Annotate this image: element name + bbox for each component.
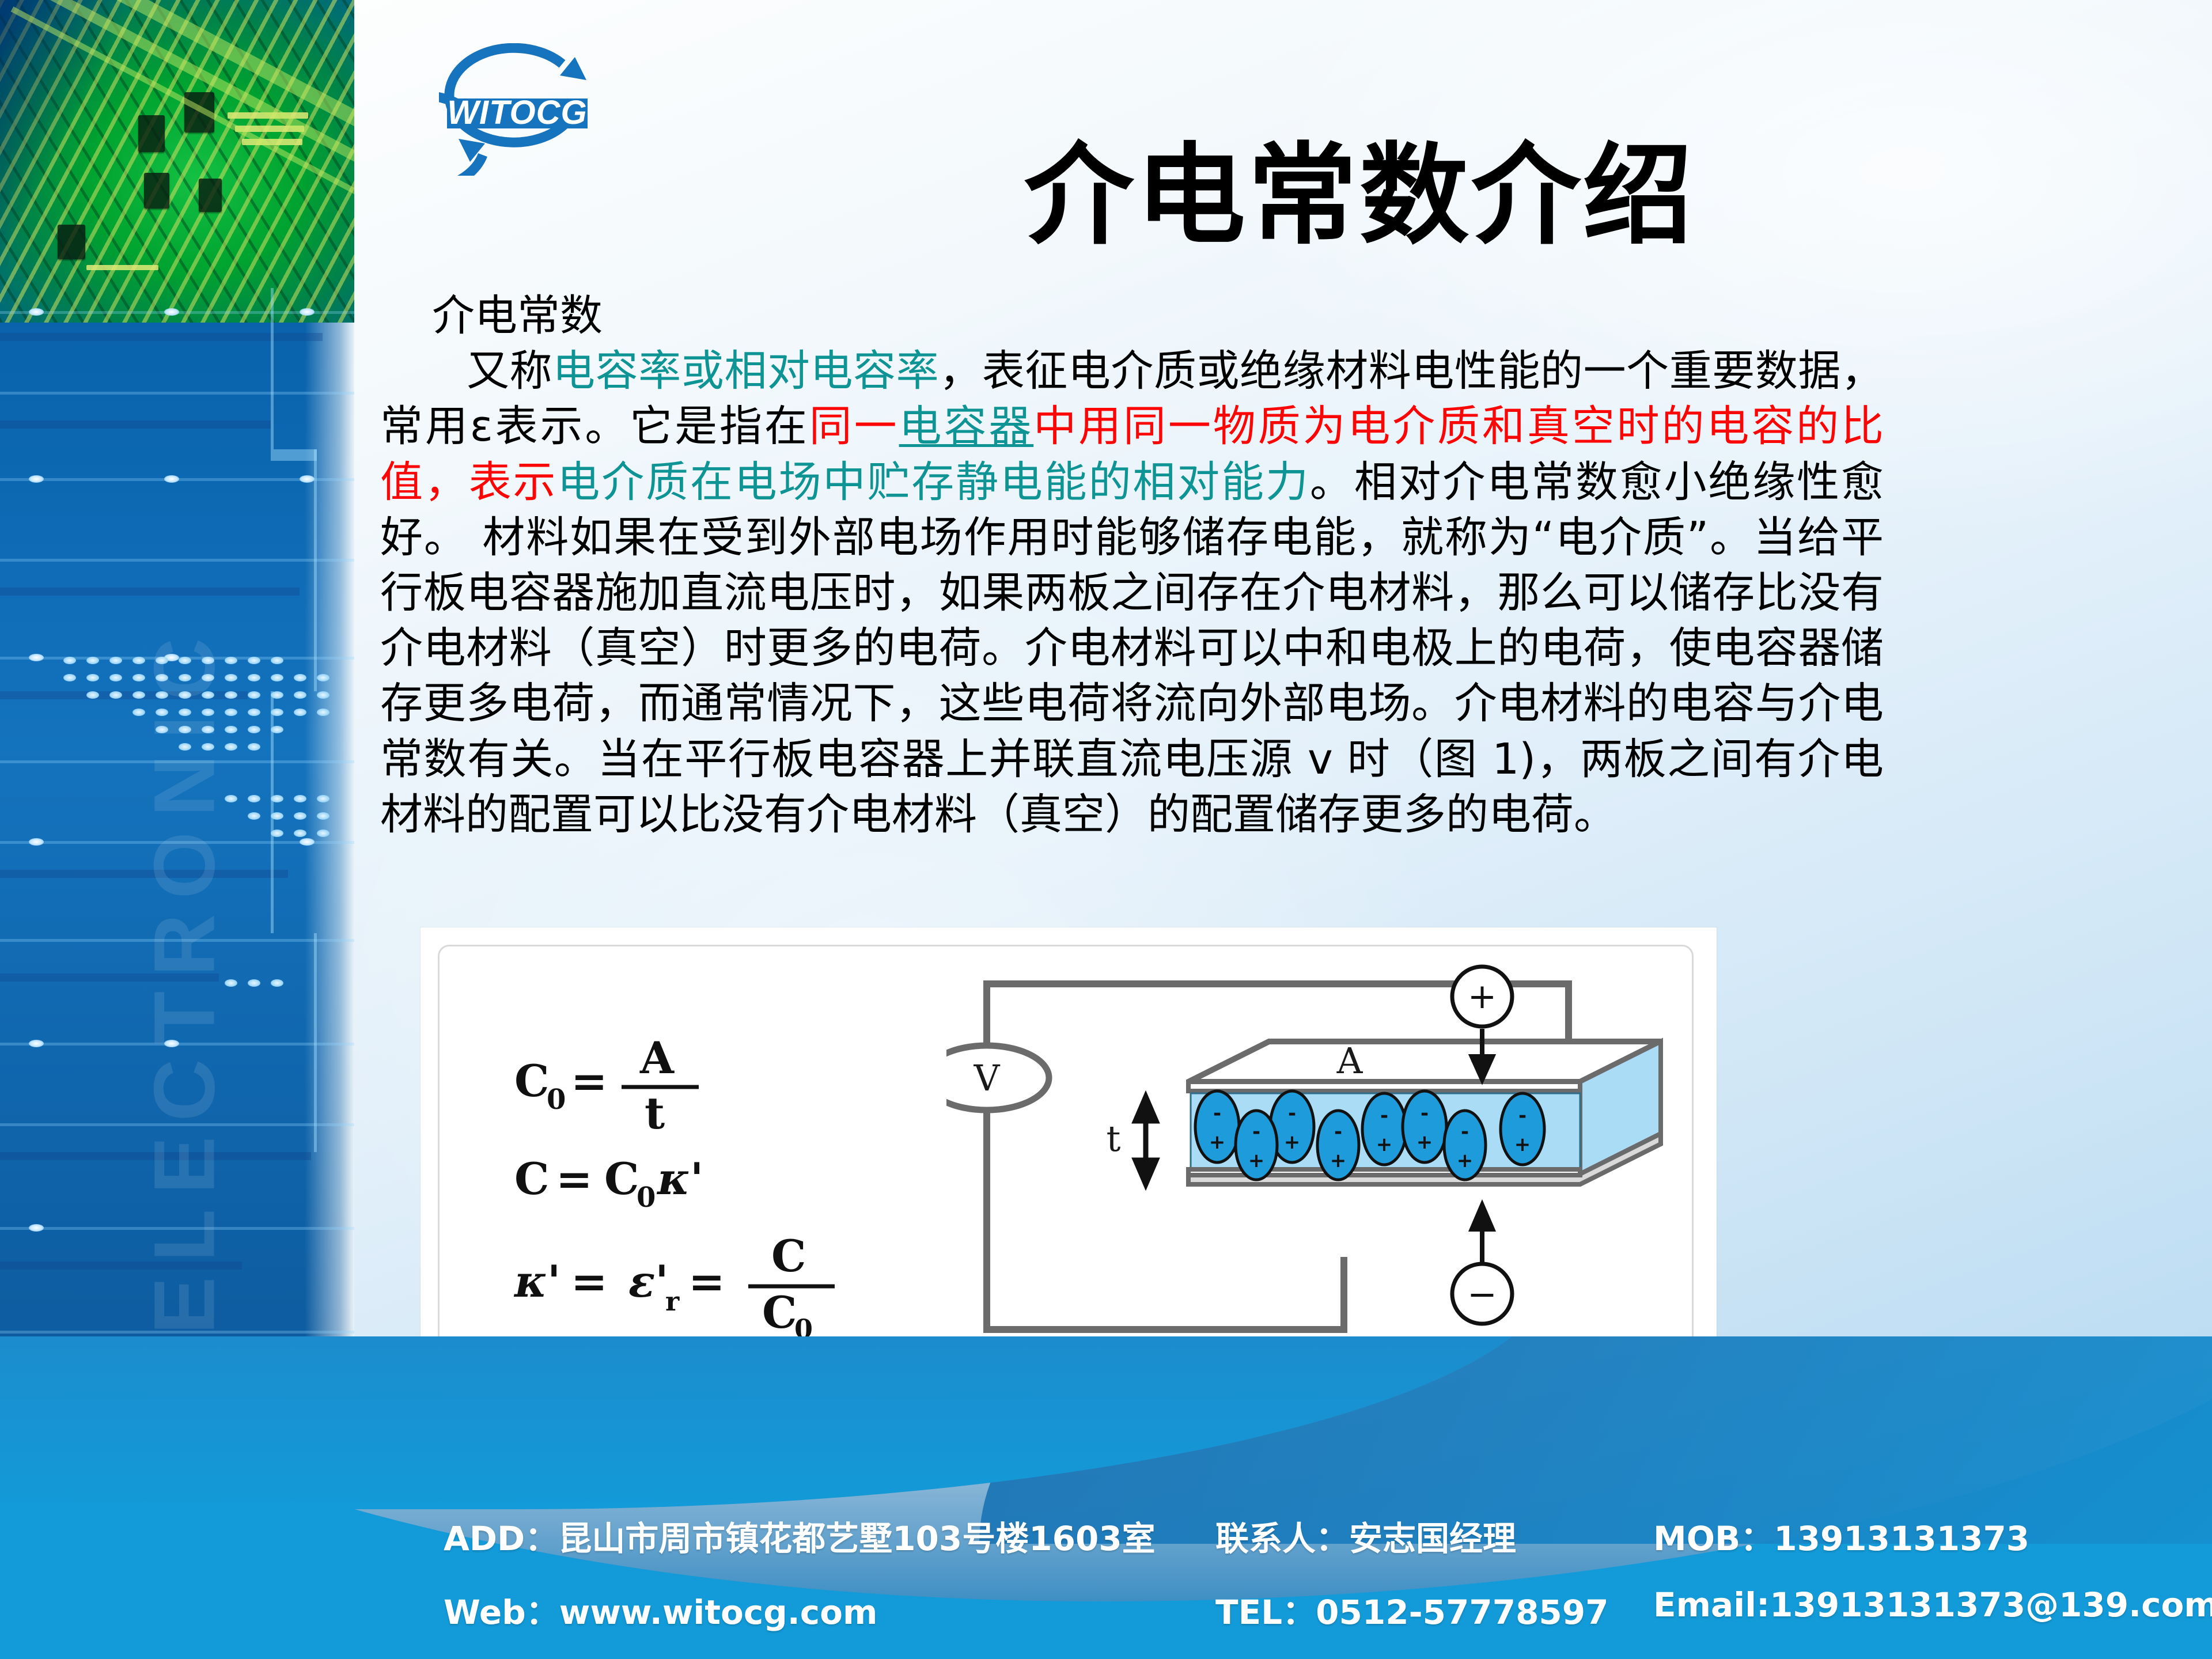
formula-3-mid-sub: r — [665, 1286, 680, 1317]
formula-3-lhs: κ' — [513, 1256, 560, 1307]
svg-text:+: + — [1376, 1133, 1393, 1156]
svg-text:-: - — [1213, 1102, 1221, 1125]
area-label: A — [1336, 1040, 1363, 1082]
footer-contact-grid: ADD：昆山市周市镇花都艺墅103号楼1603室 联系人：安志国经理 MOB：1… — [0, 1486, 2212, 1659]
footer-contact-value: 安志国经理 — [1349, 1519, 1516, 1558]
formula-1-eq: = — [571, 1055, 608, 1107]
footer-banner: ADD：昆山市周市镇花都艺墅103号楼1603室 联系人：安志国经理 MOB：1… — [0, 1336, 2212, 1659]
footer-email-label: Email: — [1653, 1585, 1770, 1624]
sidebar-watermark-text: ELECTRONIC — [135, 701, 234, 1335]
footer-tel: TEL：0512-57778597 — [1215, 1585, 1653, 1634]
footer-address-value: 昆山市周市镇花都艺墅103号楼1603室 — [558, 1519, 1156, 1558]
svg-text:+: + — [1209, 1131, 1226, 1154]
negative-charge-marker: − — [1452, 1205, 1512, 1324]
formula-3-eq1: = — [571, 1256, 608, 1307]
svg-text:-: - — [1421, 1102, 1429, 1125]
formula-1-denominator: t — [645, 1088, 665, 1139]
formula-3-denominator: C — [762, 1287, 797, 1338]
footer-tel-value: 0512-57778597 — [1316, 1593, 1608, 1632]
negative-charge-label: − — [1467, 1273, 1497, 1315]
svg-text:-: - — [1252, 1120, 1260, 1143]
formula-1-numerator: A — [639, 1032, 675, 1084]
svg-text:+: + — [1284, 1131, 1301, 1154]
formula-2-rhs-sub: 0 — [637, 1181, 656, 1214]
figure-frame: C 0 = A t C = C 0 κ' κ' = — [438, 945, 1694, 1382]
footer-contact-person: 联系人：安志国经理 — [1215, 1512, 1653, 1560]
footer-web[interactable]: Web：www.witocg.com — [444, 1585, 1215, 1634]
formula-3-denominator-sub: 0 — [794, 1313, 813, 1338]
svg-text:-: - — [1461, 1120, 1469, 1143]
formula-2-lhs: C — [514, 1153, 550, 1205]
capacitor-circuit-diagram: V t — [946, 961, 1678, 1376]
body-seg-red-1: 同一 — [809, 402, 899, 451]
svg-text:-: - — [1288, 1102, 1296, 1125]
footer-email-value[interactable]: 13913131373@139.com — [1770, 1585, 2212, 1624]
formula-2-eq: = — [556, 1153, 593, 1205]
formula-1-lhs: C — [514, 1055, 550, 1107]
footer-mobile: MOB：13913131373 — [1653, 1512, 2212, 1560]
footer-mobile-label: MOB： — [1653, 1519, 1774, 1558]
formula-3-eq2: = — [688, 1256, 725, 1307]
circuit-board-photo — [0, 0, 354, 323]
circuit-board-components — [0, 0, 354, 323]
page-title: 介电常数介绍 — [668, 141, 2051, 251]
formula-2-kappa: κ' — [656, 1153, 703, 1205]
svg-text:WITOCG: WITOCG — [447, 94, 587, 131]
svg-text:-: - — [1518, 1104, 1527, 1127]
body-seg-tail: 。相对介电常数愈小绝缘性愈好。 材料如果在受到外部电场作用时能够储存电能，就称为… — [380, 457, 1884, 839]
footer-email[interactable]: Email:13913131373@139.com — [1653, 1585, 2212, 1634]
svg-text:+: + — [1416, 1131, 1433, 1154]
positive-charge-label: + — [1468, 976, 1497, 1017]
formula-3-mid: ε' — [628, 1256, 668, 1307]
witocg-logo: WITOCG — [439, 43, 606, 176]
svg-text:+: + — [1514, 1133, 1531, 1156]
voltmeter-label: V — [974, 1057, 1001, 1099]
body-seg-prefix: 又称 — [467, 346, 552, 396]
formula-block: C 0 = A t C = C 0 κ' κ' = — [509, 1027, 946, 1340]
thickness-label: t — [1107, 1118, 1121, 1160]
body-heading: 介电常数 — [432, 288, 1884, 343]
body-paragraph: 又称电容率或相对电容率，表征电介质或绝缘材料电性能的一个重要数据，常用ε表示。它… — [380, 343, 1884, 842]
svg-text:-: - — [1334, 1120, 1342, 1143]
slide-root: ELECTRONIC WITOCG 介电常数介绍 介电常数 又称电容率或相对电容… — [0, 0, 2212, 1659]
svg-text:+: + — [1457, 1149, 1474, 1172]
body-seg-teal-1: 电容率或相对电容率 — [552, 346, 939, 396]
parallel-plate-capacitor: -+ -+ -+ -+ -+ -+ -+ -+ — [1188, 1041, 1661, 1184]
footer-address: ADD：昆山市周市镇花都艺墅103号楼1603室 — [444, 1512, 1215, 1560]
body-seg-red-3: 表示 — [469, 457, 558, 507]
formula-2-rhs: C — [604, 1153, 639, 1205]
svg-text:+: + — [1248, 1149, 1265, 1172]
footer-tel-label: TEL： — [1215, 1593, 1316, 1632]
body-copy: 介电常数 又称电容率或相对电容率，表征电介质或绝缘材料电性能的一个重要数据，常用… — [380, 288, 1884, 842]
formula-1-lhs-sub: 0 — [547, 1084, 566, 1116]
footer-address-label: ADD： — [444, 1519, 558, 1558]
body-seg-teal-underline: 电容器 — [899, 402, 1034, 451]
footer-contact-label: 联系人： — [1215, 1519, 1349, 1558]
footer-mobile-value: 13913131373 — [1774, 1519, 2029, 1558]
svg-text:-: - — [1380, 1104, 1388, 1127]
formula-3-numerator: C — [771, 1230, 806, 1282]
body-seg-teal-2: 电介质在电场中贮存静电能的相对能力 — [557, 457, 1309, 507]
svg-text:+: + — [1330, 1149, 1347, 1172]
footer-web-value[interactable]: www.witocg.com — [559, 1593, 878, 1632]
footer-web-label: Web： — [444, 1593, 559, 1632]
